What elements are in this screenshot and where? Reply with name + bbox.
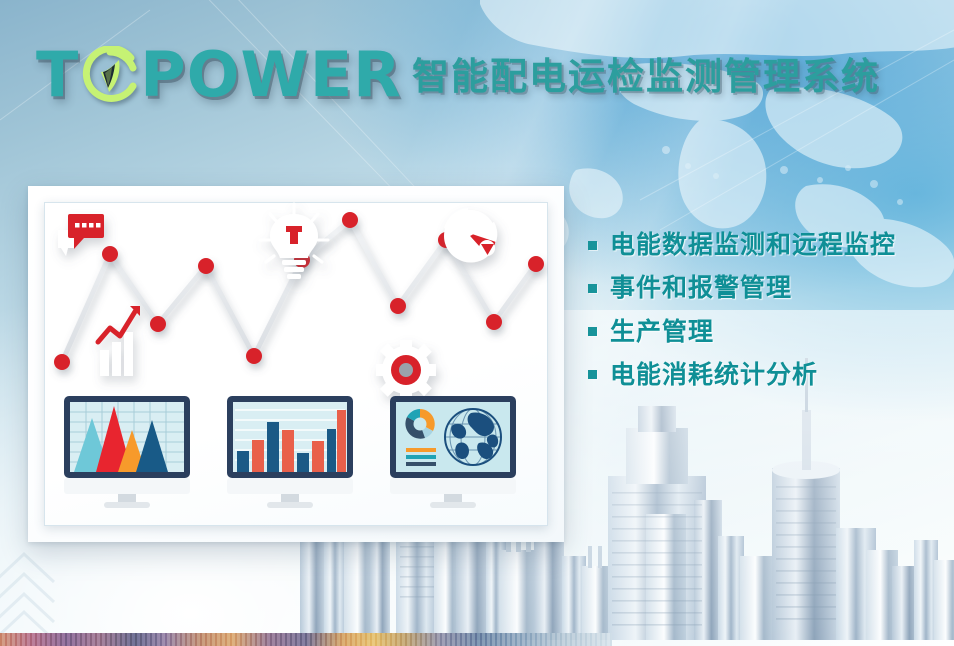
feature-label: 事件和报警管理 [610, 275, 792, 301]
chat-bubble-icon [58, 214, 104, 256]
monitor-donut-globe [384, 394, 534, 512]
list-item: 电能消耗统计分析 [588, 362, 938, 388]
feature-list: 电能数据监测和远程监控 事件和报警管理 生产管理 电能消耗统计分析 [588, 232, 938, 405]
brand-logo-letter-t: T [36, 44, 79, 106]
monitor-bar-chart [221, 394, 371, 512]
square-bullet-icon [588, 370, 597, 379]
bar-chart-growth-icon [98, 306, 140, 376]
monitor-peak-chart [58, 394, 208, 512]
feature-label: 生产管理 [610, 319, 714, 345]
monitor-row [58, 394, 534, 512]
page-title: 智能配电运检监测管理系统 [412, 58, 880, 95]
square-bullet-icon [588, 241, 597, 250]
chevron-decoration [0, 548, 60, 640]
lightbulb-idea-icon [260, 204, 328, 279]
list-item: 生产管理 [588, 319, 938, 345]
poster-canvas: T POWER 智能配电运检监测管理系统 电能数据监测和远程监控 事件和报警管理 [0, 0, 954, 646]
panel-inner-card [44, 202, 548, 526]
feature-label: 电能消耗统计分析 [610, 362, 818, 388]
leaf-in-circle-icon [81, 44, 139, 106]
gear-settings-icon [376, 340, 436, 400]
analytics-infographic-panel [28, 186, 564, 542]
square-bullet-icon [588, 327, 597, 336]
list-item: 事件和报警管理 [588, 275, 938, 301]
pie-chart-icon [444, 208, 497, 263]
brand-logo-text: POWER [140, 44, 402, 106]
list-item: 电能数据监测和远程监控 [588, 232, 938, 258]
bottom-film-strip [0, 633, 612, 646]
feature-label: 电能数据监测和远程监控 [610, 232, 896, 258]
brand-logo: T POWER [36, 38, 402, 112]
square-bullet-icon [588, 284, 597, 293]
